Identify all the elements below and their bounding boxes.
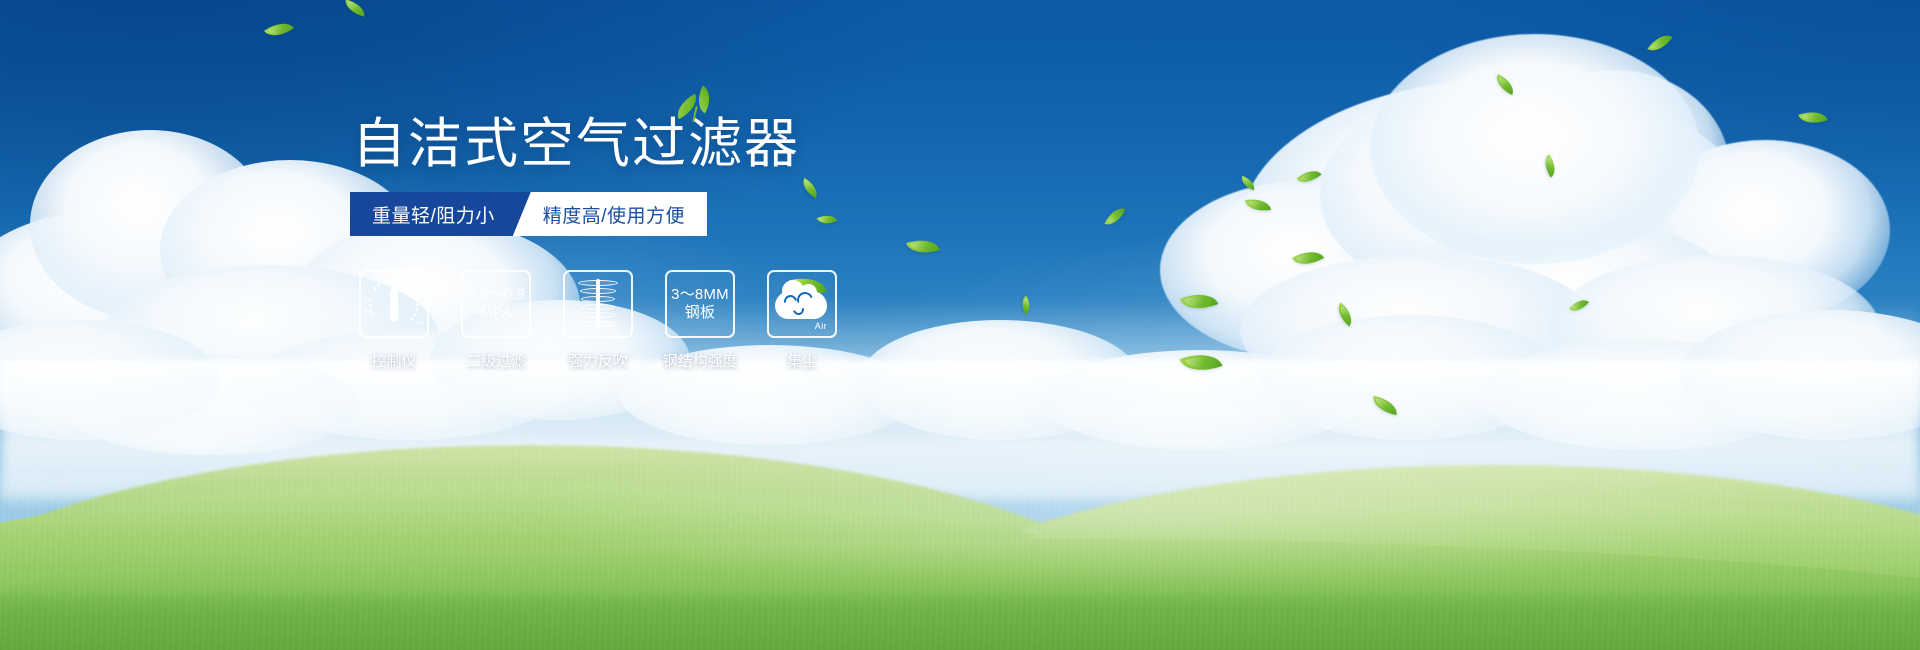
feature-tabs: 重量轻/阻力小 精度高/使用方便 [350,192,707,236]
feature-icon-box [563,270,633,338]
feature-caption: 钢结构强度 [663,350,738,371]
feature-item-steel[interactable]: 3〜8MM 钢板 钢结构强度 [664,270,736,371]
feature-caption: 集尘 [787,350,817,371]
steel-value-line1: 3〜8MM [671,286,729,304]
feature-caption: 强力反吹 [568,350,628,371]
filter-cartridge-icon [575,278,621,330]
feature-item-controller[interactable]: NO OFF 控制仪 [358,270,430,371]
pressure-value-line2: MPA [467,304,525,322]
banner-content: 自洁式空气过滤器 重量轻/阻力小 精度高/使用方便 [0,0,1920,650]
pressure-value-icon: 0.6〜0.8 MPA [467,286,525,321]
tab-precision-convenience[interactable]: 精度高/使用方便 [513,192,707,236]
air-label: Air [815,321,827,331]
leaf-sprig-icon [674,88,720,124]
gauge-min-label: NO [365,309,373,315]
feature-item-backblow[interactable]: 强力反吹 [562,270,634,371]
feature-icon-box: 3〜8MM 钢板 [665,270,735,338]
pressure-value-line1: 0.6〜0.8 [467,286,525,304]
feature-item-pressure[interactable]: 0.6〜0.8 MPA 二级过滤 [460,270,532,371]
feature-list: NO OFF 控制仪 0.6〜0.8 MPA 二级过滤 [358,270,838,371]
product-hero-banner: 自洁式空气过滤器 重量轻/阻力小 精度高/使用方便 [0,0,1920,650]
steel-plate-value-icon: 3〜8MM 钢板 [671,286,729,321]
feature-caption: 二级过滤 [466,350,526,371]
feature-icon-box: 0.6〜0.8 MPA [461,270,531,338]
feature-icon-box: Air [767,270,837,338]
feature-item-dust[interactable]: Air 集尘 [766,270,838,371]
page-title: 自洁式空气过滤器 [352,113,800,177]
gauge-max-label: OFF [413,321,424,327]
feature-caption: 控制仪 [371,350,416,371]
tab-weight-resistance[interactable]: 重量轻/阻力小 [350,192,531,236]
air-cloud-icon: Air [773,278,831,330]
feature-icon-box: NO OFF [359,270,429,338]
steel-value-line2: 钢板 [671,304,729,322]
gauge-dial-icon: NO OFF [366,279,422,329]
